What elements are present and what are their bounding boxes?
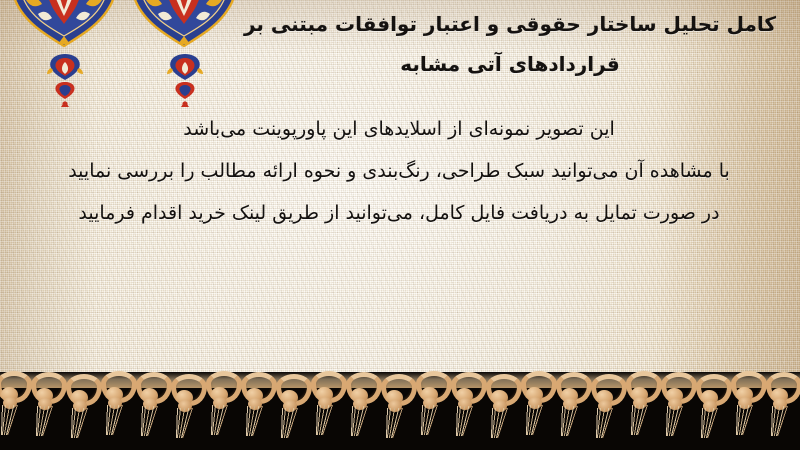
persian-pendant-left-icon (44, 52, 86, 110)
carpet-fringe (0, 368, 800, 450)
slide-title: کامل تحلیل ساختار حقوقی و اعتبار توافقات… (230, 4, 790, 84)
persian-pendant-right-icon (164, 52, 206, 110)
slide-body-line-2: با مشاهده آن می‌توانید سبک طراحی، رنگ‌بن… (12, 150, 786, 192)
slide-body-line-1: این تصویر نمونه‌ای از اسلایدهای این پاور… (12, 108, 786, 150)
slide-title-line-2: قراردادهای آتی مشابه (230, 44, 790, 84)
slide-body: این تصویر نمونه‌ای از اسلایدهای این پاور… (12, 108, 786, 234)
slide-title-line-1: کامل تحلیل ساختار حقوقی و اعتبار توافقات… (230, 4, 790, 44)
presentation-slide: کامل تحلیل ساختار حقوقی و اعتبار توافقات… (0, 0, 800, 450)
slide-body-line-3: در صورت تمایل به دریافت فایل کامل، می‌تو… (12, 192, 786, 234)
